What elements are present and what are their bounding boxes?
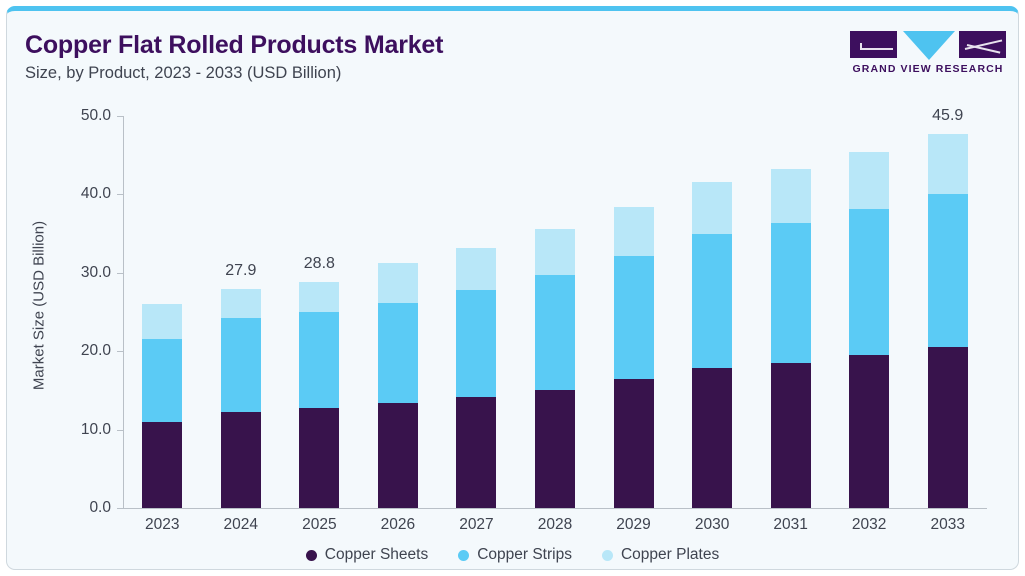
grand-view-research-logo: GRAND VIEW RESEARCH bbox=[848, 29, 1008, 81]
bar-segment-sheets[interactable] bbox=[456, 397, 496, 508]
bar-segment-strips[interactable] bbox=[771, 223, 811, 363]
x-axis-tick-label: 2023 bbox=[145, 516, 179, 534]
x-axis-tick-label: 2024 bbox=[224, 516, 258, 534]
bar-segment-strips[interactable] bbox=[928, 194, 968, 347]
bar-segment-plates[interactable] bbox=[299, 282, 339, 312]
bar-segment-strips[interactable] bbox=[849, 209, 889, 356]
chart-title: Copper Flat Rolled Products Market bbox=[25, 31, 443, 60]
logo-wordmark: GRAND VIEW RESEARCH bbox=[848, 63, 1008, 75]
bar-segment-sheets[interactable] bbox=[378, 403, 418, 508]
y-axis-tick-label: 10.0 bbox=[49, 421, 111, 439]
chart-header: Copper Flat Rolled Products Market Size,… bbox=[7, 11, 1018, 97]
bar-segment-strips[interactable] bbox=[142, 339, 182, 422]
legend-label: Copper Sheets bbox=[325, 546, 428, 564]
bar-segment-sheets[interactable] bbox=[535, 390, 575, 508]
x-axis-tick-label: 2028 bbox=[538, 516, 572, 534]
bar-segment-strips[interactable] bbox=[614, 256, 654, 379]
bar-segment-sheets[interactable] bbox=[614, 379, 654, 508]
bar-segment-strips[interactable] bbox=[456, 290, 496, 397]
x-axis-tick-label: 2031 bbox=[773, 516, 807, 534]
bar-segment-plates[interactable] bbox=[614, 207, 654, 256]
x-axis-tick-label: 2032 bbox=[852, 516, 886, 534]
y-axis-tick-label: 30.0 bbox=[49, 264, 111, 282]
logo-left-horizontal-line bbox=[860, 48, 893, 50]
bar-segment-strips[interactable] bbox=[299, 312, 339, 408]
logo-marks bbox=[848, 29, 1008, 60]
bar-group[interactable]: 2027 bbox=[437, 97, 516, 508]
bar-segment-strips[interactable] bbox=[221, 318, 261, 411]
stacked-bar[interactable] bbox=[221, 289, 261, 508]
logo-left-vertical-line bbox=[860, 43, 862, 50]
legend-item[interactable]: Copper Sheets bbox=[306, 546, 428, 564]
bar-segment-sheets[interactable] bbox=[692, 368, 732, 508]
bar-segment-plates[interactable] bbox=[692, 182, 732, 235]
bar-segment-plates[interactable] bbox=[771, 169, 811, 223]
stacked-bar[interactable] bbox=[535, 229, 575, 508]
x-axis-tick-label: 2029 bbox=[616, 516, 650, 534]
stacked-bar[interactable] bbox=[299, 282, 339, 508]
legend-item[interactable]: Copper Strips bbox=[458, 546, 572, 564]
y-axis-tick-label: 20.0 bbox=[49, 342, 111, 360]
logo-triangle-icon bbox=[903, 31, 955, 60]
stacked-bar[interactable] bbox=[456, 248, 496, 508]
chart-legend: Copper SheetsCopper StripsCopper Plates bbox=[7, 546, 1018, 564]
bar-segment-plates[interactable] bbox=[535, 229, 575, 275]
bar-group[interactable]: 45.92033 bbox=[908, 97, 987, 508]
stacked-bar[interactable] bbox=[849, 152, 889, 508]
bar-group[interactable]: 2026 bbox=[359, 97, 438, 508]
bar-segment-sheets[interactable] bbox=[221, 412, 261, 508]
logo-right-rect-icon bbox=[959, 31, 1006, 58]
x-axis-tick-label: 2030 bbox=[695, 516, 729, 534]
bar-group[interactable]: 2028 bbox=[516, 97, 595, 508]
bar-segment-plates[interactable] bbox=[378, 263, 418, 304]
legend-item[interactable]: Copper Plates bbox=[602, 546, 719, 564]
bar-segment-plates[interactable] bbox=[221, 289, 261, 318]
bar-segment-plates[interactable] bbox=[456, 248, 496, 290]
y-axis-tick-label: 50.0 bbox=[49, 107, 111, 125]
chart-card: Copper Flat Rolled Products Market Size,… bbox=[6, 6, 1019, 570]
stacked-bar[interactable] bbox=[771, 169, 811, 508]
screenshot-root: Copper Flat Rolled Products Market Size,… bbox=[0, 0, 1025, 576]
y-axis-tick-label: 40.0 bbox=[49, 185, 111, 203]
bar-segment-sheets[interactable] bbox=[142, 422, 182, 508]
legend-swatch-icon bbox=[458, 550, 469, 561]
stacked-bar[interactable] bbox=[378, 263, 418, 508]
bar-value-label: 45.9 bbox=[932, 107, 963, 125]
bar-segment-plates[interactable] bbox=[142, 304, 182, 338]
bar-segment-strips[interactable] bbox=[378, 303, 418, 403]
bar-series-container: 202327.9202428.8202520262027202820292030… bbox=[123, 97, 987, 508]
stacked-bar[interactable] bbox=[692, 182, 732, 508]
bar-group[interactable]: 2031 bbox=[751, 97, 830, 508]
bar-segment-plates[interactable] bbox=[849, 152, 889, 208]
y-axis-tick-label: 0.0 bbox=[49, 499, 111, 517]
chart-subtitle: Size, by Product, 2023 - 2033 (USD Billi… bbox=[25, 64, 341, 83]
bar-segment-sheets[interactable] bbox=[928, 347, 968, 509]
x-axis-tick-label: 2025 bbox=[302, 516, 336, 534]
x-axis-tick-label: 2026 bbox=[381, 516, 415, 534]
stacked-bar[interactable] bbox=[928, 134, 968, 508]
legend-swatch-icon bbox=[602, 550, 613, 561]
y-axis-label: Market Size (USD Billion) bbox=[31, 156, 48, 456]
bar-segment-strips[interactable] bbox=[535, 275, 575, 389]
plot-area: Market Size (USD Billion) 0.010.020.030.… bbox=[7, 97, 1018, 570]
bar-value-label: 27.9 bbox=[225, 262, 256, 280]
legend-swatch-icon bbox=[306, 550, 317, 561]
logo-left-rect-icon bbox=[850, 31, 897, 58]
bar-group[interactable]: 28.82025 bbox=[280, 97, 359, 508]
legend-label: Copper Plates bbox=[621, 546, 719, 564]
bar-group[interactable]: 2032 bbox=[830, 97, 909, 508]
bar-segment-strips[interactable] bbox=[692, 234, 732, 368]
bar-segment-sheets[interactable] bbox=[771, 363, 811, 508]
x-axis-line bbox=[123, 508, 987, 509]
x-axis-tick-label: 2033 bbox=[930, 516, 964, 534]
bar-segment-plates[interactable] bbox=[928, 134, 968, 194]
x-axis-tick-label: 2027 bbox=[459, 516, 493, 534]
bar-segment-sheets[interactable] bbox=[849, 355, 889, 508]
bar-segment-sheets[interactable] bbox=[299, 408, 339, 508]
stacked-bar[interactable] bbox=[614, 207, 654, 508]
bar-group[interactable]: 2023 bbox=[123, 97, 202, 508]
bar-value-label: 28.8 bbox=[304, 255, 335, 273]
bar-group[interactable]: 2029 bbox=[594, 97, 673, 508]
stacked-bar[interactable] bbox=[142, 304, 182, 508]
bar-group[interactable]: 2030 bbox=[673, 97, 752, 508]
bar-group[interactable]: 27.92024 bbox=[202, 97, 281, 508]
legend-label: Copper Strips bbox=[477, 546, 572, 564]
